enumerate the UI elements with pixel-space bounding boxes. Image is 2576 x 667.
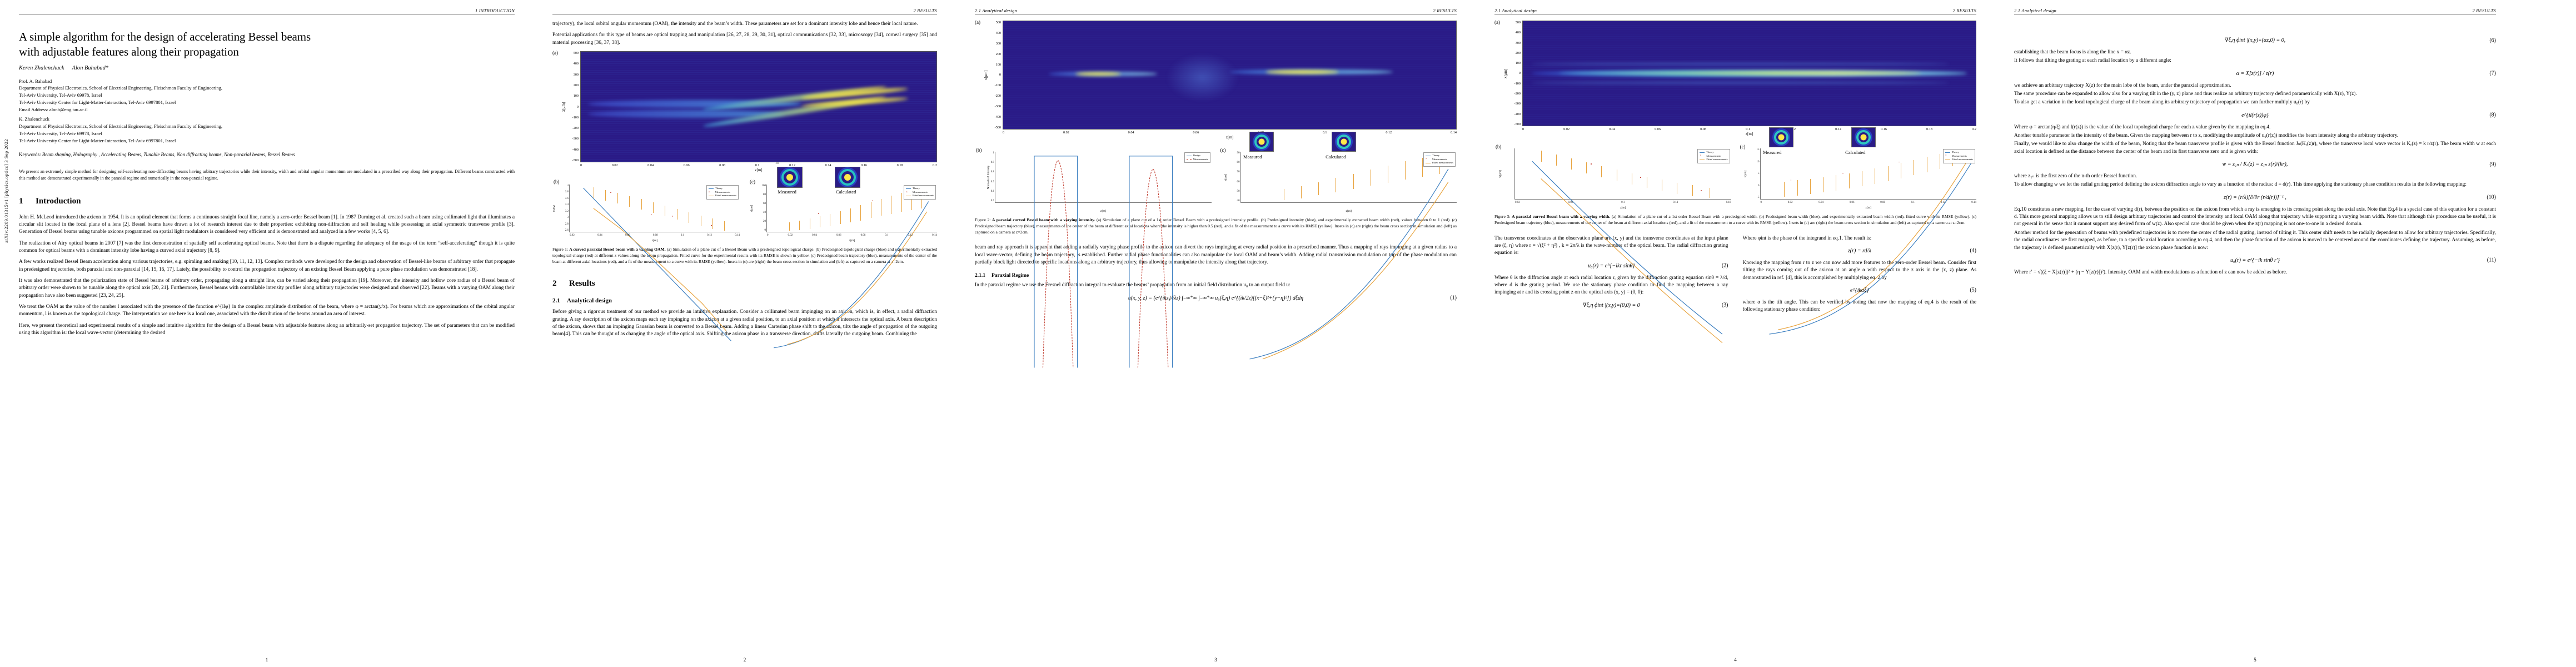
- equation-6: ∇ξ,η ϕint |(x,y)=(αz,0) = 0, (6): [2014, 37, 2496, 43]
- legend-item: Theory: [906, 187, 934, 191]
- paragraph: where z₁ₙ is the first zero of the n-th …: [2014, 173, 2496, 180]
- x-tick: 0.1: [885, 234, 888, 237]
- x-tick: 0.04: [1818, 201, 1823, 204]
- equation-1-tag: (1): [1450, 295, 1457, 301]
- legend-item: Theory: [1945, 151, 1973, 155]
- y-tick: 20: [763, 220, 766, 223]
- figure-1c-y-ticks: 100 80 60 40 20 0: [756, 185, 766, 232]
- figure-2a-y-axis-label: x[μm]: [983, 21, 989, 130]
- x-tick: 0.1: [1746, 127, 1750, 131]
- legend-item: Fitted measurements: [1945, 158, 1973, 162]
- y-tick: 300: [1509, 41, 1521, 45]
- legend-swatch: ×: [1945, 155, 1950, 157]
- x-tick: 0.06: [1850, 201, 1855, 204]
- keywords-list: Beam shaping, Holography , Accelerating …: [42, 152, 295, 157]
- running-head-page-3: 2.1 Analytical design 2 RESULTS: [975, 8, 1457, 15]
- figure-2c-legend: Theory ×Measurements Fitted measurements: [1423, 152, 1456, 167]
- legend-label: Design: [1193, 154, 1200, 158]
- figure-2a-heatmap: [1003, 21, 1457, 130]
- figure-1a-y-axis-label: x[μm]: [560, 51, 567, 162]
- figure-3c-inset-calculated: [1851, 127, 1876, 147]
- page-number: 4: [1476, 657, 1995, 663]
- y-tick: 2.8: [565, 223, 569, 226]
- figure-3-label: Figure 3:: [1494, 214, 1510, 219]
- y-tick: 1: [993, 152, 995, 155]
- x-tick: 0.06: [836, 234, 841, 237]
- legend-swatch: [1187, 159, 1192, 160]
- x-tick: 0.02: [1515, 201, 1520, 204]
- y-tick: 0: [1758, 185, 1760, 187]
- figure-1b-x-axis-label: z[m]: [570, 239, 740, 242]
- legend-swatch: [1700, 152, 1705, 153]
- equation-9-body: w = z₁ₙ / Kᵣ(z) = z₁ₙ z(r)/(kr),: [2223, 161, 2288, 167]
- running-head-page-4: 2.1 Analytical design 2 RESULTS: [1494, 8, 1976, 15]
- equation-10-body: z(r) = (r/λ)[∂/∂r (r/d(r))]⁻¹ ,: [2224, 195, 2286, 201]
- x-tick: 0.08: [719, 163, 725, 167]
- y-tick: 100: [1509, 61, 1521, 65]
- legend-item: Design: [1187, 154, 1208, 158]
- beam-lobe: [1532, 82, 1949, 84]
- figure-1-panel-b-label: (b): [554, 179, 560, 185]
- y-tick: 0.8: [991, 171, 994, 173]
- x-tick: 0.14: [932, 234, 937, 237]
- x-tick: 0.14: [1451, 131, 1457, 135]
- figure-1a-y-ticks: 500 400 300 200 100 0 -100 -200 -300 -40…: [567, 51, 580, 162]
- paragraph: Here, we present theoretical and experim…: [19, 322, 515, 337]
- x-tick: 0.2: [933, 163, 937, 167]
- figure-2c-x-axis-label: z[m]: [1241, 210, 1457, 213]
- x-tick: 0.1: [1323, 131, 1327, 135]
- y-tick: 50: [1237, 190, 1240, 193]
- legend-swatch: [906, 188, 911, 190]
- y-tick: 100: [762, 185, 766, 187]
- paragraph: trajectory), the local orbital angular m…: [552, 21, 937, 28]
- figure-3a-x-ticks: 0 0.02 0.04 0.06 0.08 0.1 0.12 0.14 0.16…: [1522, 126, 1976, 131]
- y-tick: -500: [1509, 122, 1521, 126]
- figure-1c-y-axis-label: x[μm]: [751, 205, 754, 211]
- paragraph: Where φ = arctan(η/ξ) and l(r(z)) is the…: [2014, 124, 2496, 131]
- y-tick: 40: [763, 211, 766, 214]
- equation-6-body: ∇ξ,η ϕint |(x,y)=(αz,0) = 0,: [2225, 37, 2286, 43]
- affiliation-line-4[interactable]: Email Address: alonb@eng.tau.ac.il: [19, 106, 515, 113]
- figure-2c-inset-calculated: [1332, 132, 1356, 152]
- figure-3a-x-axis-label: z[m]: [1522, 132, 1976, 136]
- equation-3-body: ∇ξ,η ϕint |(x,y)=(0,0) = 0: [1583, 302, 1640, 308]
- y-tick: 0: [765, 229, 766, 232]
- figure-1c-inset-measured-ticks: -100: [775, 162, 779, 165]
- equation-7-tag: (7): [2489, 71, 2496, 77]
- legend-item: Theory: [1700, 151, 1727, 155]
- legend-label: Theory: [1706, 151, 1713, 155]
- x-tick: 0: [1761, 201, 1762, 204]
- multi-page-paper-viewer: 1 INTRODUCTION arXiv:2209.01315v1 [physi…: [0, 0, 2576, 667]
- x-tick: 0.06: [1655, 127, 1661, 131]
- x-tick: 0.14: [1673, 201, 1678, 204]
- y-tick: 400: [567, 62, 579, 66]
- legend-swatch: [1426, 163, 1431, 164]
- x-tick: 0.18: [897, 163, 903, 167]
- paragraph: The same procedure can be expanded to al…: [2014, 91, 2496, 98]
- figure-1a-heatmap: [580, 51, 937, 162]
- y-tick: 400: [1509, 31, 1521, 34]
- page-number: 3: [956, 657, 1476, 663]
- section-number: 2: [552, 279, 569, 288]
- paragraph: It was also demonstrated that the polari…: [19, 277, 515, 300]
- x-tick: 0.12: [707, 234, 712, 237]
- paragraph: It follows that tilting the grating at e…: [2014, 57, 2496, 64]
- x-tick: 0.1: [1621, 201, 1625, 204]
- y-tick: 5: [1758, 172, 1760, 175]
- equation-8-tag: (8): [2489, 112, 2496, 118]
- figure-2b-legend: Design Measurements: [1184, 152, 1210, 163]
- legend-swatch: [1426, 156, 1431, 157]
- figure-2c-y-axis-label: x[μm]: [1224, 173, 1227, 180]
- x-tick: 0.08: [1880, 201, 1885, 204]
- legend-item: ×Measurements: [906, 191, 934, 195]
- figure-3b-x-axis-label: z[m]: [1515, 206, 1731, 210]
- equation-2-tag: (2): [1722, 263, 1728, 269]
- x-tick: 0.12: [1386, 131, 1392, 135]
- figure-3-panel-c-label: (c): [1740, 144, 1746, 150]
- legend-item: Fitted measurements: [709, 194, 736, 198]
- figure-1-panel-a-label: (a): [552, 50, 558, 56]
- keywords-label: Keywords:: [19, 152, 41, 157]
- paragraph: To also get a variation in the local top…: [2014, 99, 2496, 106]
- equation-11-tag: (11): [2487, 257, 2496, 263]
- figure-1: (a) x[μm] 500 400 300 200 100 0 -100 -20…: [552, 51, 937, 265]
- page-2: 2 RESULTS trajectory), the local orbital…: [534, 0, 956, 667]
- paragraph: Potential applications for this type of …: [552, 32, 937, 47]
- legend-label: Fitted measurements: [1706, 158, 1727, 162]
- y-tick: 2.6: [565, 229, 569, 232]
- abstract: We present an extremely simple method fo…: [19, 168, 515, 182]
- paragraph: Another method for the generation of bea…: [2014, 230, 2496, 252]
- author-2: Alon Bahabad*: [72, 65, 109, 71]
- bessel-core: [1259, 139, 1265, 145]
- y-tick: 4: [567, 185, 569, 187]
- legend-item: Fitted measurements: [906, 194, 934, 198]
- figure-3a-y-axis-label: x[μm]: [1502, 21, 1509, 126]
- running-head-right: 2 RESULTS: [1953, 8, 1976, 13]
- figure-2b-curves: [995, 152, 1212, 368]
- figure-3c-inset-measured: [1769, 127, 1793, 147]
- running-head-right: 2 RESULTS: [2473, 8, 2496, 13]
- legend-swatch: [1945, 160, 1950, 161]
- page-number: 2: [534, 657, 956, 663]
- legend-swatch: [1187, 156, 1192, 157]
- figure-3c-y-ticks: 15 10 5 0 -5: [1750, 148, 1760, 199]
- x-tick: 0.04: [812, 234, 817, 237]
- x-tick: 0.06: [1193, 131, 1199, 135]
- running-head-left: 2.1 Analytical design: [1494, 8, 1537, 13]
- y-tick: 300: [989, 42, 1001, 46]
- x-tick: 0.02: [570, 234, 575, 237]
- y-tick: 3.8: [565, 191, 569, 193]
- legend-swatch: ×: [1426, 158, 1431, 161]
- figure-1c-x-axis-label: z[m]: [767, 239, 937, 242]
- y-tick: 80: [1237, 161, 1240, 164]
- y-tick: -400: [989, 115, 1001, 119]
- x-tick: 0.02: [1063, 131, 1069, 135]
- x-tick: 0: [580, 163, 582, 167]
- figure-1b-y-ticks: 4 3.8 3.6 3.4 3.2 3 2.8 2.6: [559, 185, 569, 232]
- y-tick: -200: [989, 94, 1001, 98]
- y-tick: 0.5: [991, 200, 994, 202]
- y-tick: -100: [989, 83, 1001, 87]
- y-tick: 200: [1509, 51, 1521, 55]
- affiliation-line-0: Prof. A. Bahabad: [19, 78, 515, 85]
- legend-swatch: ×: [1700, 155, 1705, 157]
- affiliation-line-2: Tel-Aviv University, Tel-Aviv 69978, Isr…: [19, 92, 515, 99]
- figure-3c-x-axis-label: z[m]: [1761, 206, 1977, 210]
- equation-7-body: α = X[z(r)] / z(r): [2236, 71, 2274, 77]
- title-line-2: with adjustable features along their pro…: [19, 44, 515, 59]
- legend-item: ×Measurements: [1700, 155, 1727, 158]
- equation-4-tag: (4): [1970, 248, 1976, 254]
- legend-item: Theory: [1426, 154, 1453, 158]
- figure-2b-plot: 1 0.9 0.8 0.7 0.6 0.5 Normalized Intensi…: [995, 152, 1212, 203]
- figure-1a-x-axis-label: z[m]: [580, 168, 937, 172]
- y-tick: -200: [1509, 92, 1521, 96]
- x-tick: 0.02: [1788, 201, 1793, 204]
- legend-swatch: [709, 196, 714, 197]
- legend-label: Fitted measurements: [715, 194, 736, 198]
- figure-1c-x-ticks: 0 0.02 0.04 0.06 0.08 0.1 0.12 0.14: [767, 234, 937, 237]
- equation-11-body: u₀(r) = e^{−ik sinθ r′}: [2230, 257, 2280, 263]
- x-tick: 0.08: [861, 234, 866, 237]
- x-tick: 0.06: [684, 163, 690, 167]
- equation-2-body: u₀(r) = e^{−ikr sinθ}: [1588, 263, 1635, 269]
- affiliation-block: Prof. A. Bahabad Department of Physical …: [19, 78, 515, 144]
- legend-swatch: [906, 196, 911, 197]
- paragraph: establishing that the beam focus is alon…: [2014, 49, 2496, 56]
- y-tick: 3.4: [565, 203, 569, 206]
- y-tick: 0: [1509, 71, 1521, 75]
- x-tick: 0.1: [1911, 201, 1915, 204]
- paragraph: we achieve an arbitrary trajectory X(z) …: [2014, 82, 2496, 89]
- x-tick: 0.06: [1568, 201, 1573, 204]
- x-tick: 0.08: [653, 234, 658, 237]
- figure-1c-legend: Theory ×Measurements Fitted measurements: [904, 185, 936, 200]
- legend-item: Fitted measurements: [1426, 161, 1453, 165]
- running-head-page-1: 1 INTRODUCTION: [19, 8, 515, 15]
- figure-2c-plot: 90 80 70 60 50 40 x[μm] Measured: [1240, 152, 1457, 203]
- y-tick: 60: [763, 202, 766, 205]
- legend-swatch: ×: [906, 191, 911, 194]
- figure-2-panel-a-label: (a): [975, 19, 980, 25]
- keywords: Keywords: Beam shaping, Holography , Acc…: [19, 151, 515, 159]
- legend-label: Measurements: [1952, 155, 1967, 158]
- x-tick: 0.18: [1726, 201, 1731, 204]
- y-tick: 300: [567, 73, 579, 77]
- equation-8: e^{il(r(z))φ} (8): [2014, 112, 2496, 118]
- equation-2: u₀(r) = e^{−ikr sinθ} (2): [1494, 263, 1728, 269]
- x-tick: 0.1: [755, 163, 760, 167]
- x-tick: 0.16: [1881, 127, 1887, 131]
- x-tick: 0.1: [681, 234, 684, 237]
- x-tick: 0.02: [612, 163, 618, 167]
- y-tick: -100: [567, 116, 579, 120]
- y-tick: 70: [1237, 171, 1240, 173]
- figure-3b-x-ticks: 0.02 0.06 0.1 0.14 0.18: [1515, 201, 1731, 204]
- y-tick: 500: [1509, 21, 1521, 24]
- legend-item: ×Measurements: [1426, 158, 1453, 162]
- legend-label: Measurements: [1193, 158, 1208, 162]
- equation-3-tag: (3): [1722, 302, 1728, 308]
- x-tick: 0.04: [597, 234, 602, 237]
- legend-swatch: [709, 188, 714, 190]
- y-tick: 0: [989, 73, 1001, 77]
- y-tick: 3: [567, 216, 569, 219]
- figure-2-label: Figure 2:: [975, 217, 990, 222]
- paragraph: Eq.10 constitutes a new mapping, for the…: [2014, 206, 2496, 228]
- title-line-1: A simple algorithm for the design of acc…: [19, 29, 515, 44]
- x-tick: 0.02: [1563, 127, 1569, 131]
- equation-5-body: e^{ikαξ}: [1850, 287, 1869, 293]
- paragraph: John H. McLeod introduced the axicon in …: [19, 214, 515, 236]
- legend-label: Measurements: [1432, 158, 1447, 162]
- legend-label: Measurements: [715, 191, 730, 195]
- y-tick: 3.2: [565, 210, 569, 213]
- figure-3-panel-a-label: (a): [1494, 19, 1500, 25]
- x-tick: 0.04: [647, 163, 654, 167]
- y-tick: 100: [567, 94, 579, 98]
- figure-2a-x-axis-label: z[m]: [1003, 135, 1457, 140]
- y-tick: -500: [567, 158, 579, 162]
- figure-1b-plot: 4 3.8 3.6 3.4 3.2 3 2.8 2.6 OAM: [569, 185, 740, 232]
- y-tick: -400: [567, 148, 579, 152]
- paragraph: Finally, we would like to also change th…: [2014, 141, 2496, 156]
- figure-3c-legend: Theory ×Measurements Fitted measurements: [1943, 149, 1975, 163]
- y-tick: 40: [1237, 200, 1240, 202]
- figure-3c-y-axis-label: x[μm]: [1744, 170, 1747, 177]
- page-number: 5: [1995, 657, 2515, 663]
- section-heading-introduction: 1Introduction: [19, 197, 515, 206]
- figure-1b-y-axis-label: OAM: [553, 205, 556, 212]
- running-head-left: 2.1 Analytical design: [2014, 8, 2056, 13]
- y-tick: 500: [989, 21, 1001, 24]
- equation-1: u(x, y, z) = (e^{ikz}/iλz) ∫₋∞⁺∞ ∫₋∞⁺∞ u…: [975, 295, 1457, 301]
- figure-2a-x-ticks: 0 0.02 0.04 0.06 0.08 0.1 0.12 0.14: [1003, 130, 1457, 135]
- beam-lobe: [1532, 63, 1949, 65]
- running-head-right: 1 INTRODUCTION: [475, 8, 515, 13]
- y-tick: -5: [1757, 196, 1759, 199]
- y-tick: 200: [567, 83, 579, 87]
- affiliation-line-1: Department of Physical Electronics, Scho…: [19, 84, 515, 92]
- y-tick: -300: [989, 104, 1001, 108]
- figure-3a-y-ticks: 500 400 300 200 100 0 -100 -200 -300 -40…: [1509, 21, 1522, 126]
- equation-5: e^{ikαξ} (5): [1743, 287, 1977, 293]
- figure-3: (a) x[μm] 500 400 300 200 100 0 -100 -20…: [1494, 21, 1976, 226]
- x-tick: 0.04: [1128, 131, 1134, 135]
- x-tick: 0.14: [735, 234, 740, 237]
- legend-item: ×Measurements: [1945, 155, 1973, 158]
- x-tick: 0: [767, 234, 769, 237]
- legend-label: Theory: [1432, 154, 1439, 158]
- running-head-left: 2.1 Analytical design: [975, 8, 1017, 13]
- equation-1-body: u(x, y, z) = (e^{ikz}/iλz) ∫₋∞⁺∞ ∫₋∞⁺∞ u…: [1128, 295, 1303, 301]
- paragraph: To allow changing w we let the radial gr…: [2014, 181, 2496, 188]
- author-1: Keren Zhalenchuck: [19, 65, 64, 71]
- y-tick: 100: [989, 63, 1001, 67]
- legend-item: Theory: [709, 187, 736, 191]
- paragraph: A few works realized Bessel Beam acceler…: [19, 258, 515, 273]
- x-tick: 0.18: [1926, 127, 1932, 131]
- page-title: A simple algorithm for the design of acc…: [19, 29, 515, 59]
- y-tick: -100: [1509, 82, 1521, 86]
- paragraph: We treat the OAM as the value of the num…: [19, 303, 515, 318]
- y-tick: 80: [763, 193, 766, 196]
- x-tick: 0.16: [861, 163, 867, 167]
- x-tick: 0.14: [1971, 201, 1976, 204]
- legend-label: Fitted measurements: [1432, 161, 1453, 165]
- subsection-number: 2.1: [552, 297, 567, 304]
- equation-4-body: z(r) = rd/λ: [1848, 248, 1871, 254]
- figure-2b-y-axis-label: Normalized Intensity: [988, 165, 990, 188]
- affiliation-line-6: Department of Physical Electronics, Scho…: [19, 123, 515, 130]
- figure-2c-inset-measured: [1249, 132, 1274, 152]
- y-tick: 500: [567, 51, 579, 55]
- y-tick: -200: [567, 126, 579, 130]
- affiliation-line-8: Tel-Aviv University Center for Light-Mat…: [19, 137, 515, 145]
- y-tick: 0.6: [991, 190, 994, 193]
- figure-1b-x-ticks: 0.02 0.04 0.06 0.08 0.1 0.12 0.14: [570, 234, 740, 237]
- figure-3c-x-ticks: 0 0.02 0.04 0.06 0.08 0.1 0.12 0.14: [1761, 201, 1977, 204]
- legend-swatch: [1945, 152, 1950, 153]
- legend-label: Theory: [715, 187, 723, 191]
- equation-10: z(r) = (r/λ)[∂/∂r (r/d(r))]⁻¹ , (10): [2014, 195, 2496, 201]
- paragraph: Where r′ = √((ξ − X[z(r)])² + (η − Y[z(r…: [2014, 269, 2496, 276]
- section-number: 1: [19, 197, 36, 206]
- legend-label: Theory: [913, 187, 920, 191]
- legend-swatch: [1700, 160, 1705, 161]
- equation-6-tag: (6): [2489, 37, 2496, 43]
- affiliation-line-5: K. Zhalenchuck: [19, 116, 515, 123]
- bessel-core: [1860, 135, 1866, 141]
- figure-1-panel-c-label: (c): [750, 179, 755, 185]
- running-head-page-2: 2 RESULTS: [552, 8, 937, 15]
- page-5: 2.1 Analytical design 2 RESULTS ∇ξ,η ϕin…: [1995, 0, 2515, 667]
- page-3: 2.1 Analytical design 2 RESULTS (a) x[μm…: [956, 0, 1476, 667]
- y-tick: -500: [989, 126, 1001, 130]
- legend-label: Fitted measurements: [913, 194, 934, 198]
- running-head-page-5: 2.1 Analytical design 2 RESULTS: [2014, 8, 2496, 15]
- legend-swatch: ×: [709, 191, 714, 194]
- section-title: Introduction: [36, 197, 81, 206]
- x-tick: 0.04: [1609, 127, 1615, 131]
- x-tick: 0: [1522, 127, 1524, 131]
- y-tick: -300: [567, 137, 579, 141]
- legend-item: Fitted measurements: [1700, 158, 1727, 162]
- figure-3-panel-b-label: (b): [1496, 144, 1502, 150]
- page-1: 1 INTRODUCTION arXiv:2209.01315v1 [physi…: [0, 0, 534, 667]
- equation-5-tag: (5): [1970, 287, 1976, 293]
- x-tick: 0.2: [1972, 127, 1976, 131]
- beam-lobe: [1266, 70, 1338, 74]
- paragraph: The realization of Airy optical beams in…: [19, 240, 515, 255]
- equation-8-body: e^{il(r(z))φ}: [2241, 112, 2269, 118]
- author-list: Keren ZhalenchuckAlon Bahabad*: [19, 65, 515, 71]
- x-tick: 0.14: [1835, 127, 1841, 131]
- figure-2a-y-ticks: 500 400 300 200 100 0 -100 -200 -300 -40…: [989, 21, 1003, 130]
- legend-label: Measurements: [1706, 155, 1721, 158]
- affiliation-line-7: Tel-Aviv University, Tel-Aviv 69978, Isr…: [19, 130, 515, 137]
- equation-9-tag: (9): [2489, 161, 2496, 167]
- y-tick: -400: [1509, 112, 1521, 116]
- figure-1b-legend: Theory ×Measurements Fitted measurements: [706, 185, 739, 200]
- figure-3a-heatmap: [1522, 21, 1976, 126]
- y-tick: 0.7: [991, 181, 994, 183]
